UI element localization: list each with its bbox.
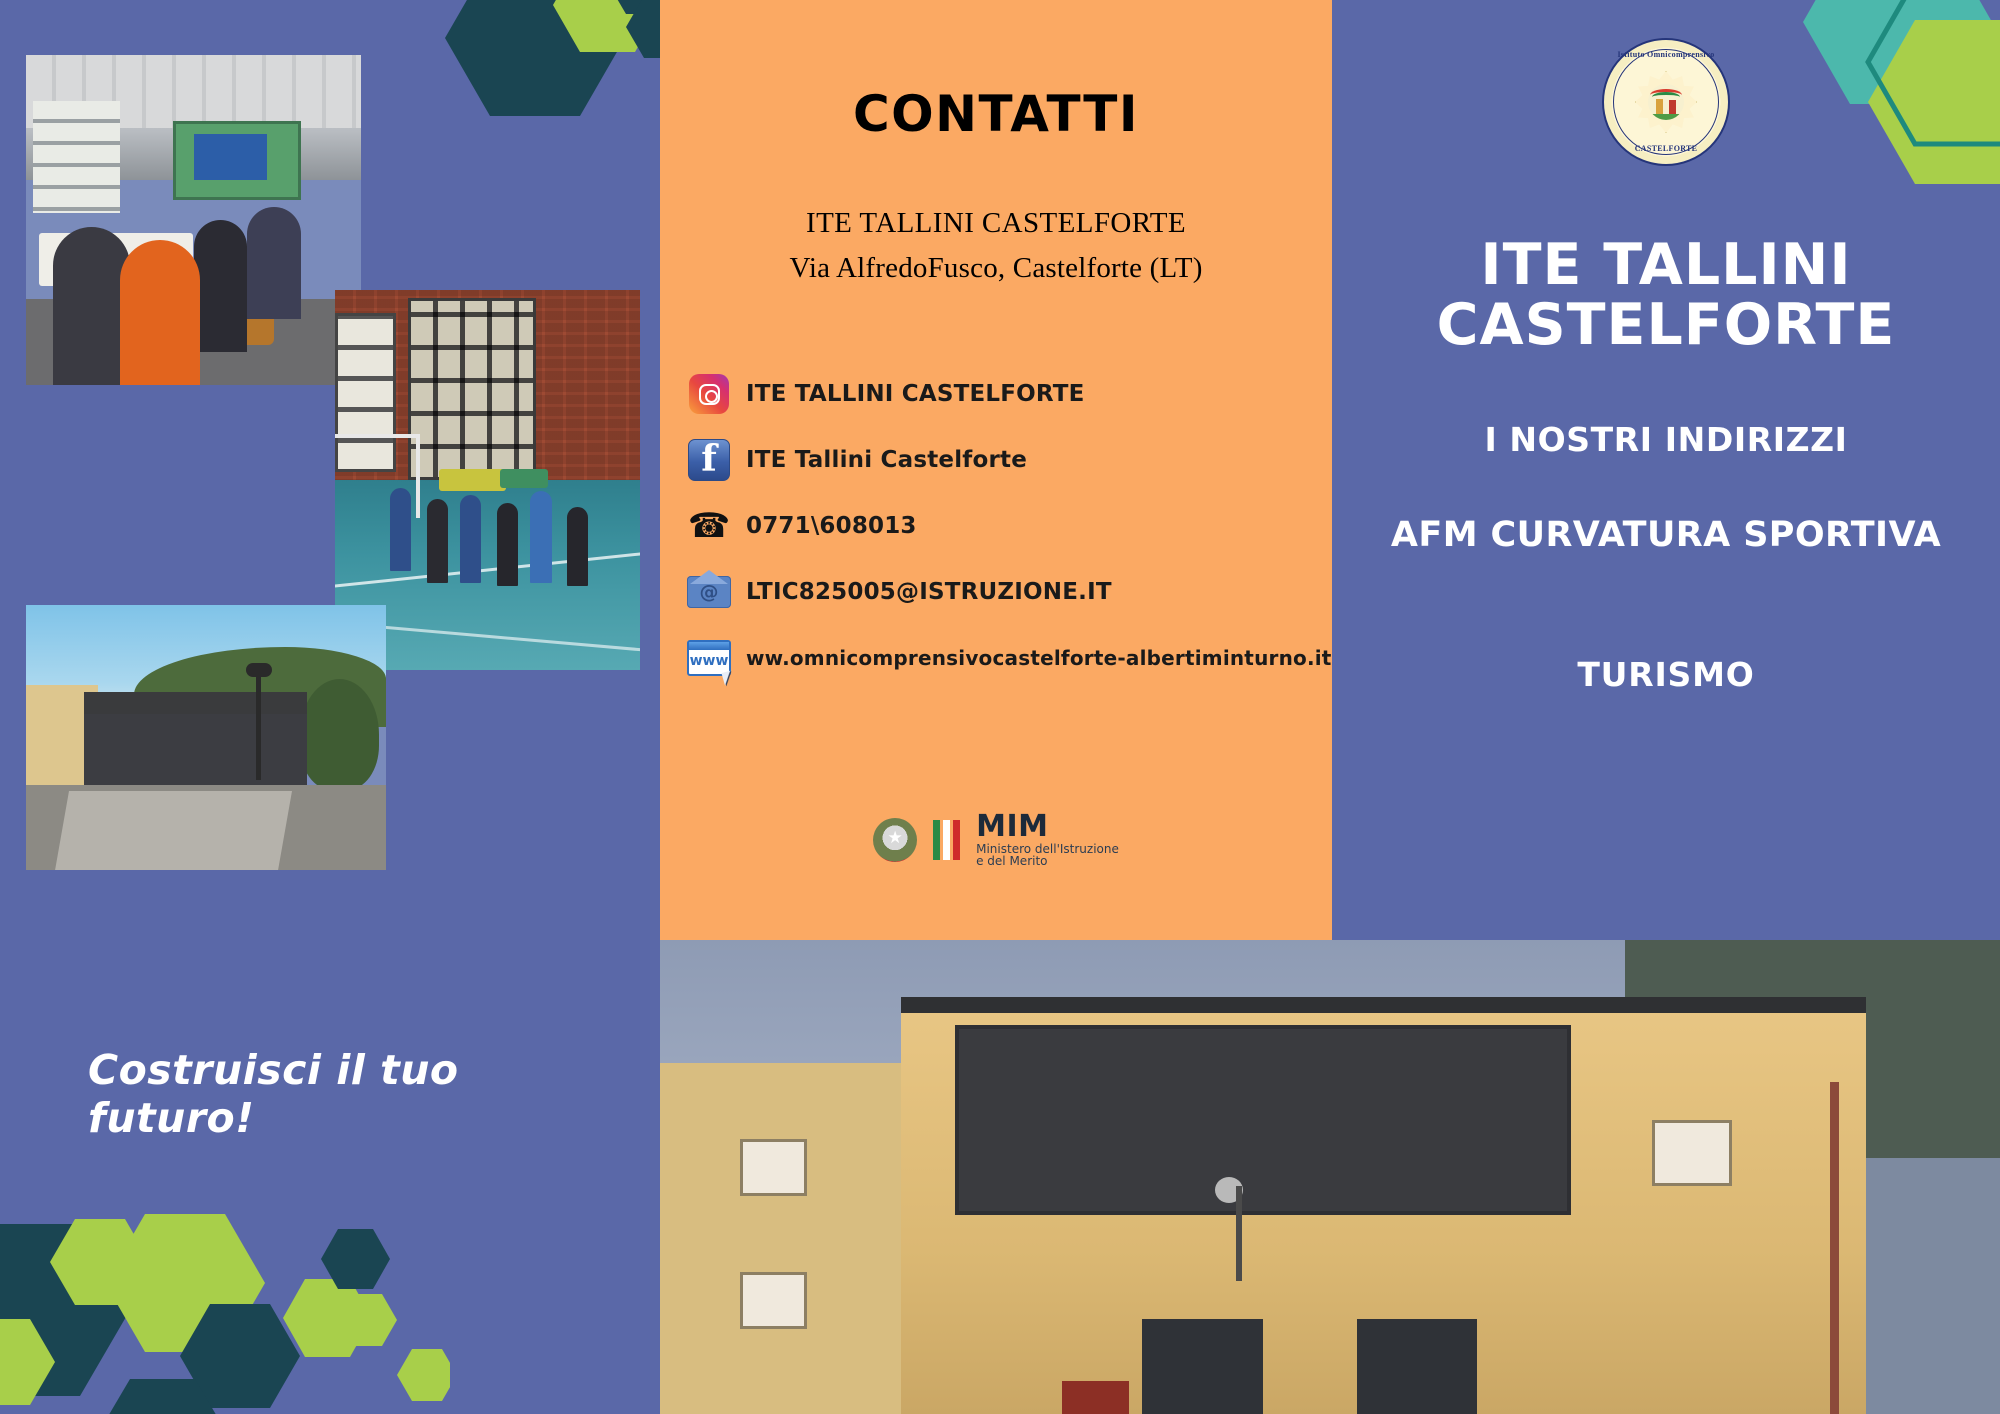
seal-top-text: Istituto Omnicomprensivo (1604, 50, 1728, 59)
italian-flag-bars-icon (933, 820, 960, 860)
phone-number: 0771\608013 (746, 513, 917, 539)
email-icon: @ (686, 569, 732, 615)
classroom-photo (26, 55, 361, 385)
hexagon-decoration-top-left (430, 0, 660, 160)
right-panel: Istituto Omnicomprensivo CASTELFORTE ITE… (1332, 0, 2000, 940)
contact-row-phone[interactable]: ☎ 0771\608013 (686, 503, 1332, 549)
italy-republic-emblem-icon (873, 818, 917, 862)
instagram-handle: ITE TALLINI CASTELFORTE (746, 381, 1085, 407)
contact-row-instagram[interactable]: ITE TALLINI CASTELFORTE (686, 371, 1332, 417)
course-turismo: TURISMO (1332, 655, 2000, 694)
left-panel: Costruisci il tuo futuro! (0, 0, 660, 1414)
contact-row-website[interactable]: www ww.omnicomprensivocastelforte-albert… (686, 635, 1332, 681)
email-address: LTIC825005@ISTRUZIONE.IT (746, 579, 1112, 605)
ministry-line-2: e del Merito (976, 855, 1119, 868)
contact-list: ITE TALLINI CASTELFORTE ITE Tallini Cast… (686, 371, 1332, 681)
facebook-handle: ITE Tallini Castelforte (746, 447, 1027, 473)
school-address: Via AlfredoFusco, Castelforte (LT) (660, 252, 1332, 285)
instagram-icon (686, 371, 732, 417)
school-facade-photo (660, 940, 2000, 1414)
section-heading-indirizzi: I NOSTRI INDIRIZZI (1332, 420, 2000, 459)
brochure-title-line-2: CASTELFORTE (1332, 295, 2000, 355)
course-afm-sportiva: AFM CURVATURA SPORTIVA (1332, 515, 2000, 555)
phone-icon: ☎ (686, 503, 732, 549)
contact-panel: CONTATTI ITE TALLINI CASTELFORTE Via Alf… (660, 0, 1332, 940)
seal-village-emblem-icon (1648, 84, 1684, 120)
website-icon: www (686, 635, 732, 681)
tagline: Costruisci il tuo futuro! (88, 1046, 608, 1142)
facebook-icon (686, 437, 732, 483)
page-title: CONTATTI (660, 85, 1332, 143)
school-building-photo (26, 605, 386, 870)
ministry-logo: MIM Ministero dell'Istruzione e del Meri… (660, 811, 1332, 868)
ministry-acronym: MIM (976, 809, 1048, 844)
contact-row-email[interactable]: @ LTIC825005@ISTRUZIONE.IT (686, 569, 1332, 615)
seal-bottom-text: CASTELFORTE (1604, 144, 1728, 153)
school-seal-logo: Istituto Omnicomprensivo CASTELFORTE (1602, 38, 1730, 166)
hexagon-decoration-top-right (1730, 0, 2000, 260)
website-url: ww.omnicomprensivocastelforte-albertimin… (746, 646, 1332, 670)
hexagon-decoration-bottom-left (0, 1194, 450, 1414)
contact-row-facebook[interactable]: ITE Tallini Castelforte (686, 437, 1332, 483)
school-name: ITE TALLINI CASTELFORTE (660, 207, 1332, 240)
